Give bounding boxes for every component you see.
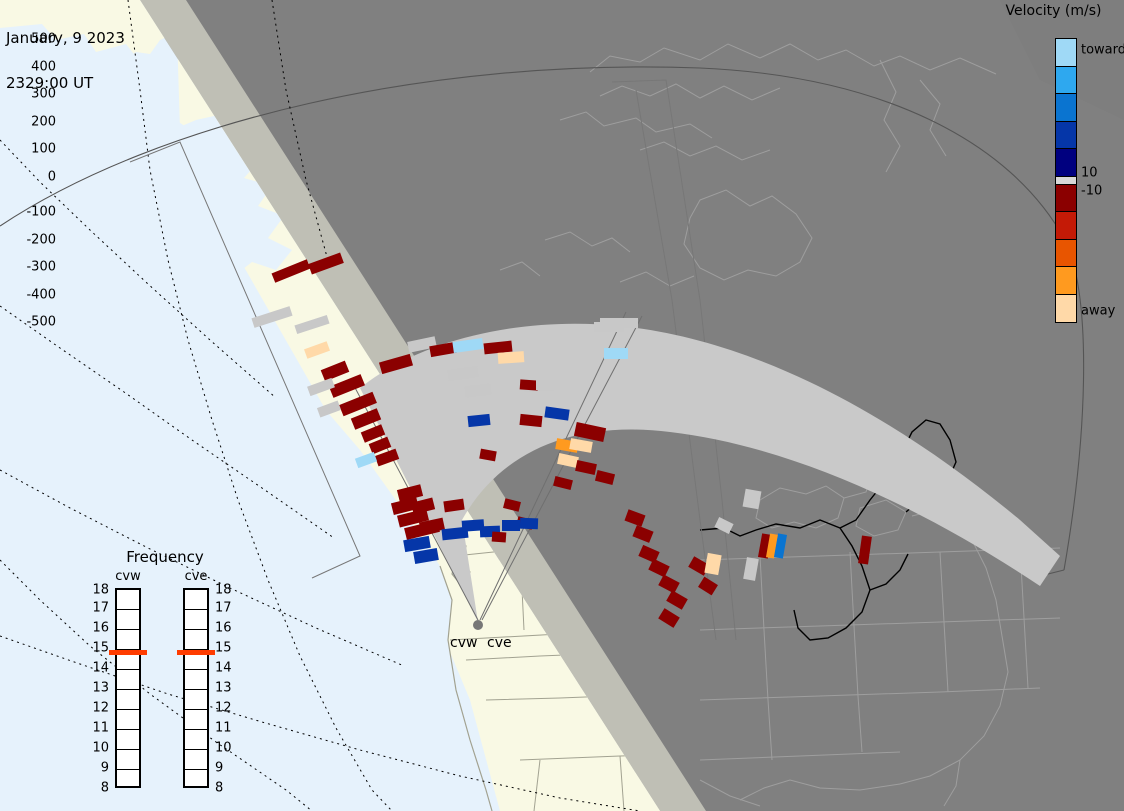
radar-label-cve: cve (487, 635, 512, 651)
frequency-tick-label: 9 (85, 761, 109, 776)
colorbar-tick-label: -400 (0, 287, 56, 302)
velocity-cell (624, 509, 645, 526)
frequency-gauge-name: cvw (103, 569, 153, 584)
frequency-gauge-segment (185, 610, 207, 630)
colorbar-band (1056, 122, 1076, 150)
velocity-cell (413, 548, 439, 564)
frequency-gauge-segment (117, 690, 139, 710)
frequency-tick-label: 10 (85, 741, 109, 756)
frequency-tick-label: 15 (85, 641, 109, 656)
colorbar-band (1056, 149, 1076, 177)
frequency-gauge-segment (185, 710, 207, 730)
frequency-tick-label: 13 (85, 681, 109, 696)
velocity-cell (307, 378, 335, 396)
velocity-cell (304, 341, 330, 359)
velocity-cell (858, 535, 872, 564)
velocity-cell (502, 520, 520, 531)
velocity-cell (452, 338, 483, 353)
velocity-colorbar: Velocity (m/s) (975, 0, 1124, 340)
title-time: 2329:00 UT (6, 76, 125, 91)
radar-site-marker (473, 620, 483, 630)
colorbar-tick-label: -300 (0, 260, 56, 275)
velocity-cell (447, 366, 478, 381)
colorbar-strip (1055, 38, 1077, 323)
velocity-cell (443, 499, 464, 513)
frequency-marker-cve (177, 650, 215, 655)
frequency-tick-label: 12 (85, 701, 109, 716)
velocity-cell (743, 489, 762, 510)
velocity-cell (294, 315, 329, 334)
velocity-cell (308, 253, 344, 275)
frequency-marker-cvw (109, 650, 147, 655)
timestamp-title: January, 9 2023 2329:00 UT (6, 1, 125, 121)
frequency-tick-label: 17 (85, 601, 109, 616)
velocity-cell (544, 406, 569, 420)
frequency-title: Frequency (85, 548, 245, 566)
frequency-tick-label: 9 (215, 761, 239, 776)
frequency-gauge-name: cve (171, 569, 221, 584)
velocity-cell (355, 452, 377, 468)
title-date: January, 9 2023 (6, 31, 125, 46)
velocity-cell (317, 401, 341, 418)
frequency-gauge-segment (117, 610, 139, 630)
velocity-cell (743, 557, 759, 581)
colorbar-title: Velocity (m/s) (983, 3, 1124, 19)
frequency-gauge-segment (117, 750, 139, 770)
velocity-cell (272, 259, 311, 283)
frequency-gauge-segment (185, 690, 207, 710)
frequency-tick-label: 18 (215, 583, 239, 598)
frequency-tick-label: 10 (215, 741, 239, 756)
frequency-tick-label: 8 (215, 781, 239, 796)
velocity-cell (632, 525, 653, 543)
frequency-tick-label: 8 (85, 781, 109, 796)
velocity-cell (251, 306, 292, 328)
frequency-gauge-segment (117, 670, 139, 690)
frequency-tick-label: 14 (215, 661, 239, 676)
frequency-gauge-segment (185, 750, 207, 770)
radar-label-cvw: cvw (450, 635, 477, 651)
frequency-gauge-segment (185, 730, 207, 750)
frequency-tick-label: 11 (85, 721, 109, 736)
frequency-gauge-segment (185, 590, 207, 610)
velocity-cell (574, 422, 606, 442)
velocity-cell (467, 414, 490, 427)
frequency-tick-label: 16 (215, 621, 239, 636)
frequency-gauge-segment (185, 770, 207, 790)
colorbar-tick-label: 100 (0, 142, 56, 157)
colorbar-tick-label: -500 (0, 315, 56, 330)
frequency-gauge-cvw (115, 588, 141, 788)
frequency-tick-label: 17 (215, 601, 239, 616)
velocity-cell (536, 380, 560, 390)
velocity-cell (503, 498, 521, 512)
frequency-gauge-segment (117, 730, 139, 750)
colorbar-band (1056, 185, 1076, 213)
velocity-cell (520, 518, 538, 530)
velocity-cell (658, 608, 680, 628)
velocity-cell (519, 414, 542, 427)
frequency-tick-label: 13 (215, 681, 239, 696)
frequency-gauge-segment (117, 590, 139, 610)
velocity-cell (464, 384, 491, 398)
colorbar-band (1056, 177, 1076, 185)
velocity-cell (658, 574, 680, 593)
colorbar-band (1056, 295, 1076, 323)
frequency-gauge-cve (183, 588, 209, 788)
velocity-cell (698, 577, 718, 596)
colorbar-tick-label: -200 (0, 232, 56, 247)
frequency-gauge-segment (185, 670, 207, 690)
velocity-cell (595, 470, 615, 485)
frequency-gauge-segment (185, 630, 207, 650)
velocity-cell (604, 348, 628, 359)
velocity-cell (553, 476, 573, 490)
velocity-cell (498, 351, 525, 364)
velocity-cell (520, 379, 539, 390)
frequency-tick-label: 14 (85, 661, 109, 676)
colorbar-tick-label: 0 (0, 169, 56, 184)
velocity-cell (704, 553, 721, 575)
colorbar-band (1056, 240, 1076, 268)
frequency-tick-label: 11 (215, 721, 239, 736)
velocity-cell (321, 361, 350, 382)
velocity-cell (714, 517, 733, 534)
radar-map-view: January, 9 2023 2329:00 UT Velocity (m/s… (0, 0, 1124, 811)
velocity-cell (600, 318, 620, 328)
velocity-cell (492, 532, 507, 543)
frequency-legend: Frequency cvw18171615141312111098cve1817… (85, 545, 245, 795)
colorbar-band (1056, 267, 1076, 295)
colorbar-tick-label: -100 (0, 205, 56, 220)
velocity-cell (479, 449, 496, 462)
frequency-tick-label: 16 (85, 621, 109, 636)
frequency-tick-label: 15 (215, 641, 239, 656)
velocity-cell (557, 453, 579, 468)
frequency-tick-label: 18 (85, 583, 109, 598)
colorbar-band (1056, 39, 1076, 67)
colorbar-band (1056, 212, 1076, 240)
colorbar-band (1056, 94, 1076, 122)
velocity-cell (666, 590, 688, 609)
frequency-tick-label: 12 (215, 701, 239, 716)
velocity-cell (575, 460, 597, 475)
colorbar-band (1056, 67, 1076, 95)
frequency-gauge-segment (117, 770, 139, 790)
frequency-gauge-segment (117, 710, 139, 730)
velocity-cell (379, 354, 413, 374)
frequency-gauge-segment (117, 630, 139, 650)
